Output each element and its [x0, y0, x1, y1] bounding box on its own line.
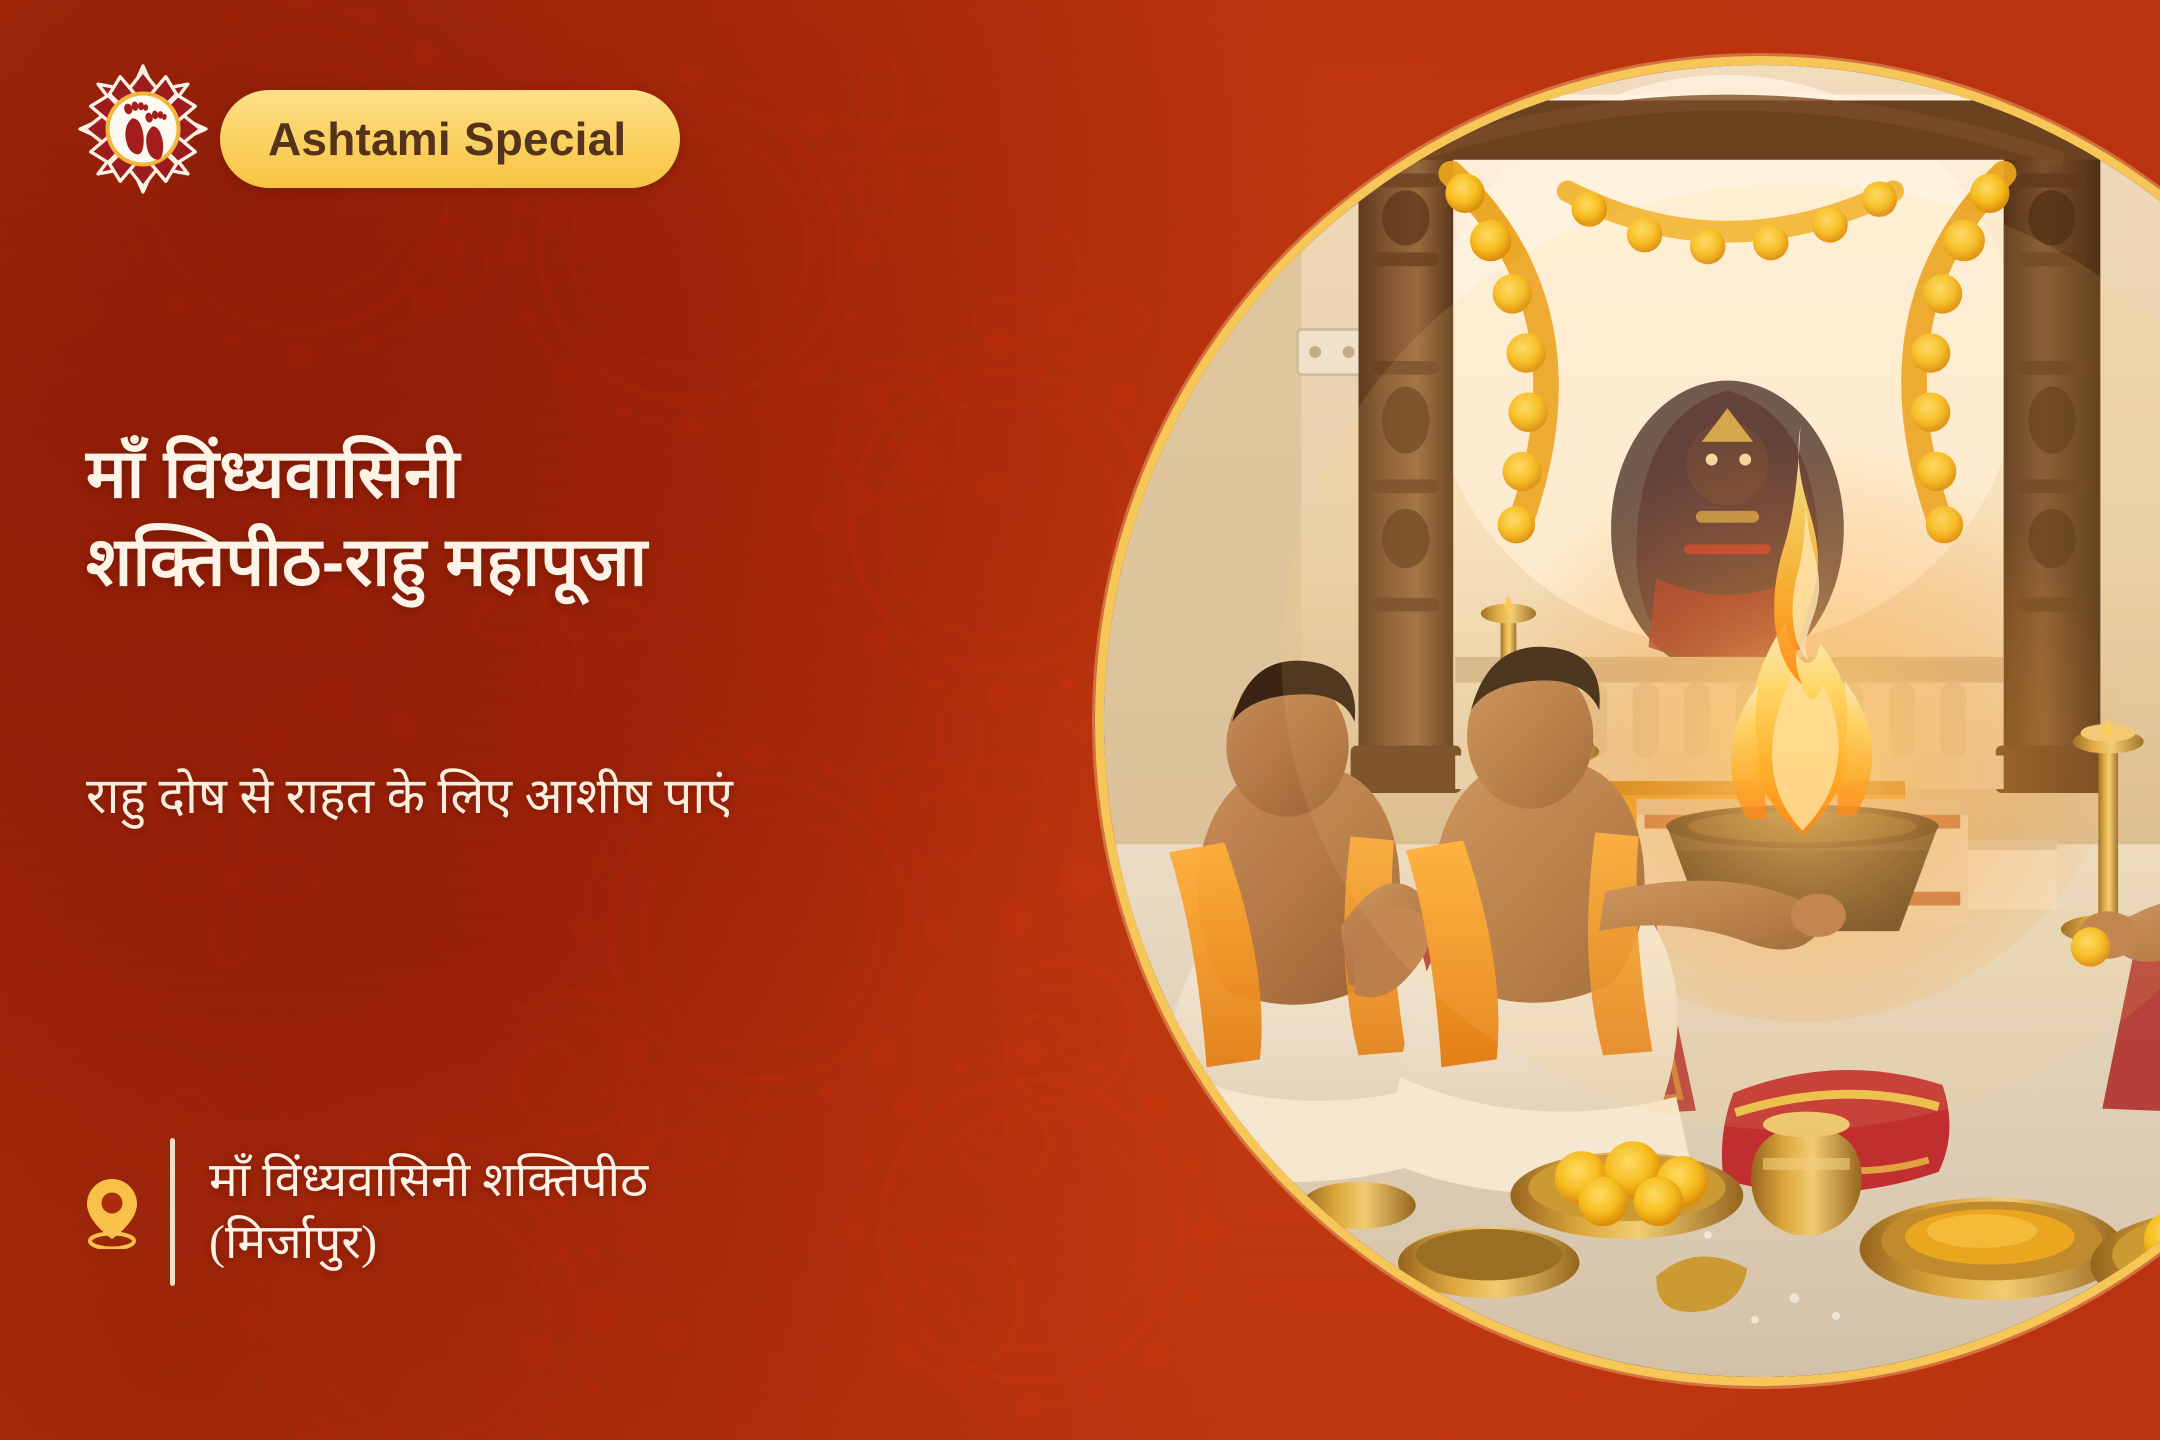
headline-line-2: शक्तिपीठ-राहु महापूजा — [86, 518, 986, 606]
lotus-footprints-icon — [76, 62, 210, 196]
poster-canvas: Ashtami Special माँ विंध्यवासिनी शक्तिपी… — [0, 0, 2160, 1440]
page-title: माँ विंध्यवासिनी शक्तिपीठ-राहु महापूजा — [86, 430, 986, 607]
location-pin-graphic — [80, 1175, 144, 1249]
ritual-photo-image — [1104, 65, 2160, 1377]
subtitle-line-1: राहु दोष से राहत के लिए — [86, 768, 512, 824]
ritual-photo — [1095, 56, 2160, 1386]
subtitle-line-2: आशीष पाएं — [525, 768, 733, 824]
havan-scene-illustration — [1104, 65, 2160, 1377]
page-subtitle: राहु दोष से राहत के लिए आशीष पाएं — [86, 762, 846, 831]
location-line-2: (मिर्जापुर) — [209, 1212, 648, 1274]
location-line-1: माँ विंध्यवासिनी शक्तिपीठ — [209, 1150, 648, 1212]
location-block: माँ विंध्यवासिनी शक्तिपीठ (मिर्जापुर) — [80, 1138, 648, 1286]
ashtami-special-badge[interactable]: Ashtami Special — [220, 90, 680, 188]
badge-label: Ashtami Special — [268, 112, 626, 166]
location-text: माँ विंध्यवासिनी शक्तिपीठ (मिर्जापुर) — [209, 1150, 648, 1275]
headline-line-1: माँ विंध्यवासिनी — [86, 436, 460, 512]
lotus-footprints-logo-graphic — [76, 62, 210, 196]
location-divider — [170, 1138, 175, 1286]
location-pin-icon — [80, 1175, 144, 1249]
